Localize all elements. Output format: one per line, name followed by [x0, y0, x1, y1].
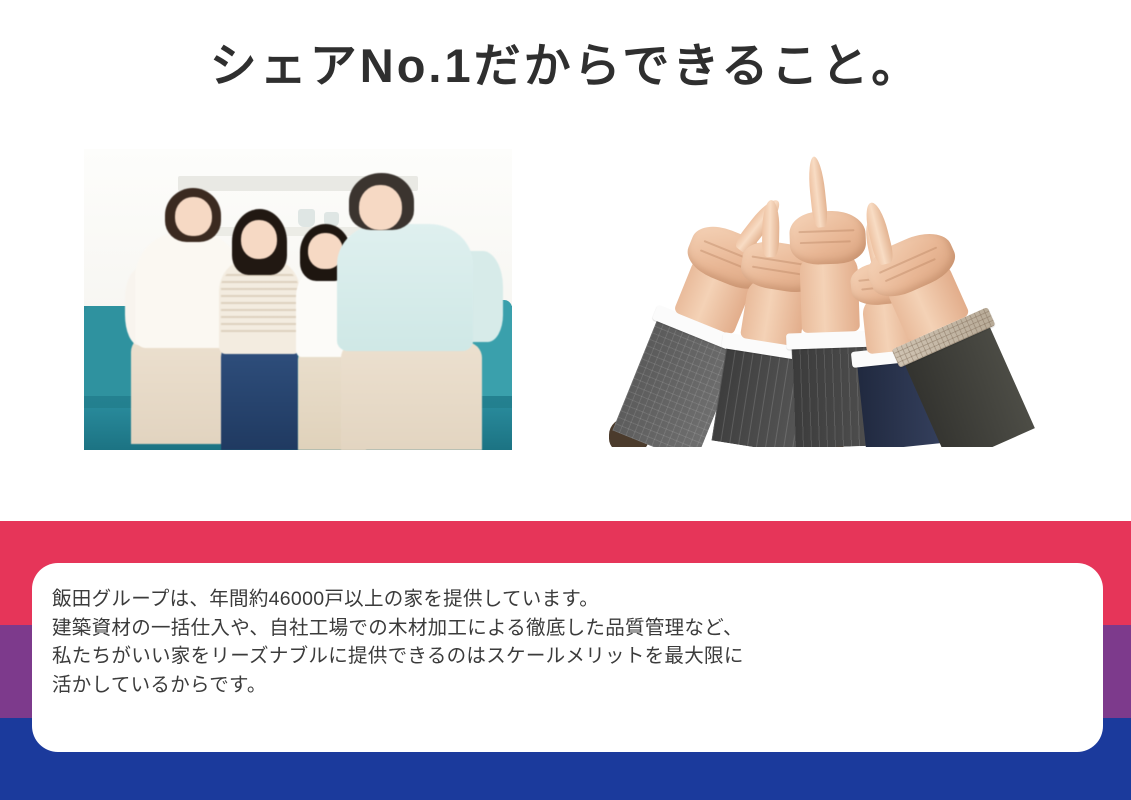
index-finger-2 — [761, 200, 779, 258]
mother-head — [175, 197, 212, 236]
mother-legs — [131, 336, 229, 444]
daughter-head — [241, 220, 277, 259]
photo-raised-pointing-hands — [600, 149, 1043, 447]
father-torso — [337, 224, 474, 350]
daughter-legs — [221, 345, 298, 450]
jar-left — [298, 209, 315, 227]
page-title: シェアNo.1だからできること。 — [0, 36, 1131, 96]
photo-family-on-sofa — [84, 149, 512, 450]
father-legs — [341, 342, 482, 450]
slide-canvas: シェアNo.1だからできること。 — [0, 0, 1131, 800]
info-card-body-text: 飯田グループは、年間約46000戸以上の家を提供しています。 建築資材の一括仕入… — [52, 585, 1083, 699]
info-card: 飯田グループは、年間約46000戸以上の家を提供しています。 建築資材の一括仕入… — [32, 563, 1103, 752]
father-head — [359, 185, 402, 230]
daughter-shirt-stripes — [221, 269, 298, 335]
